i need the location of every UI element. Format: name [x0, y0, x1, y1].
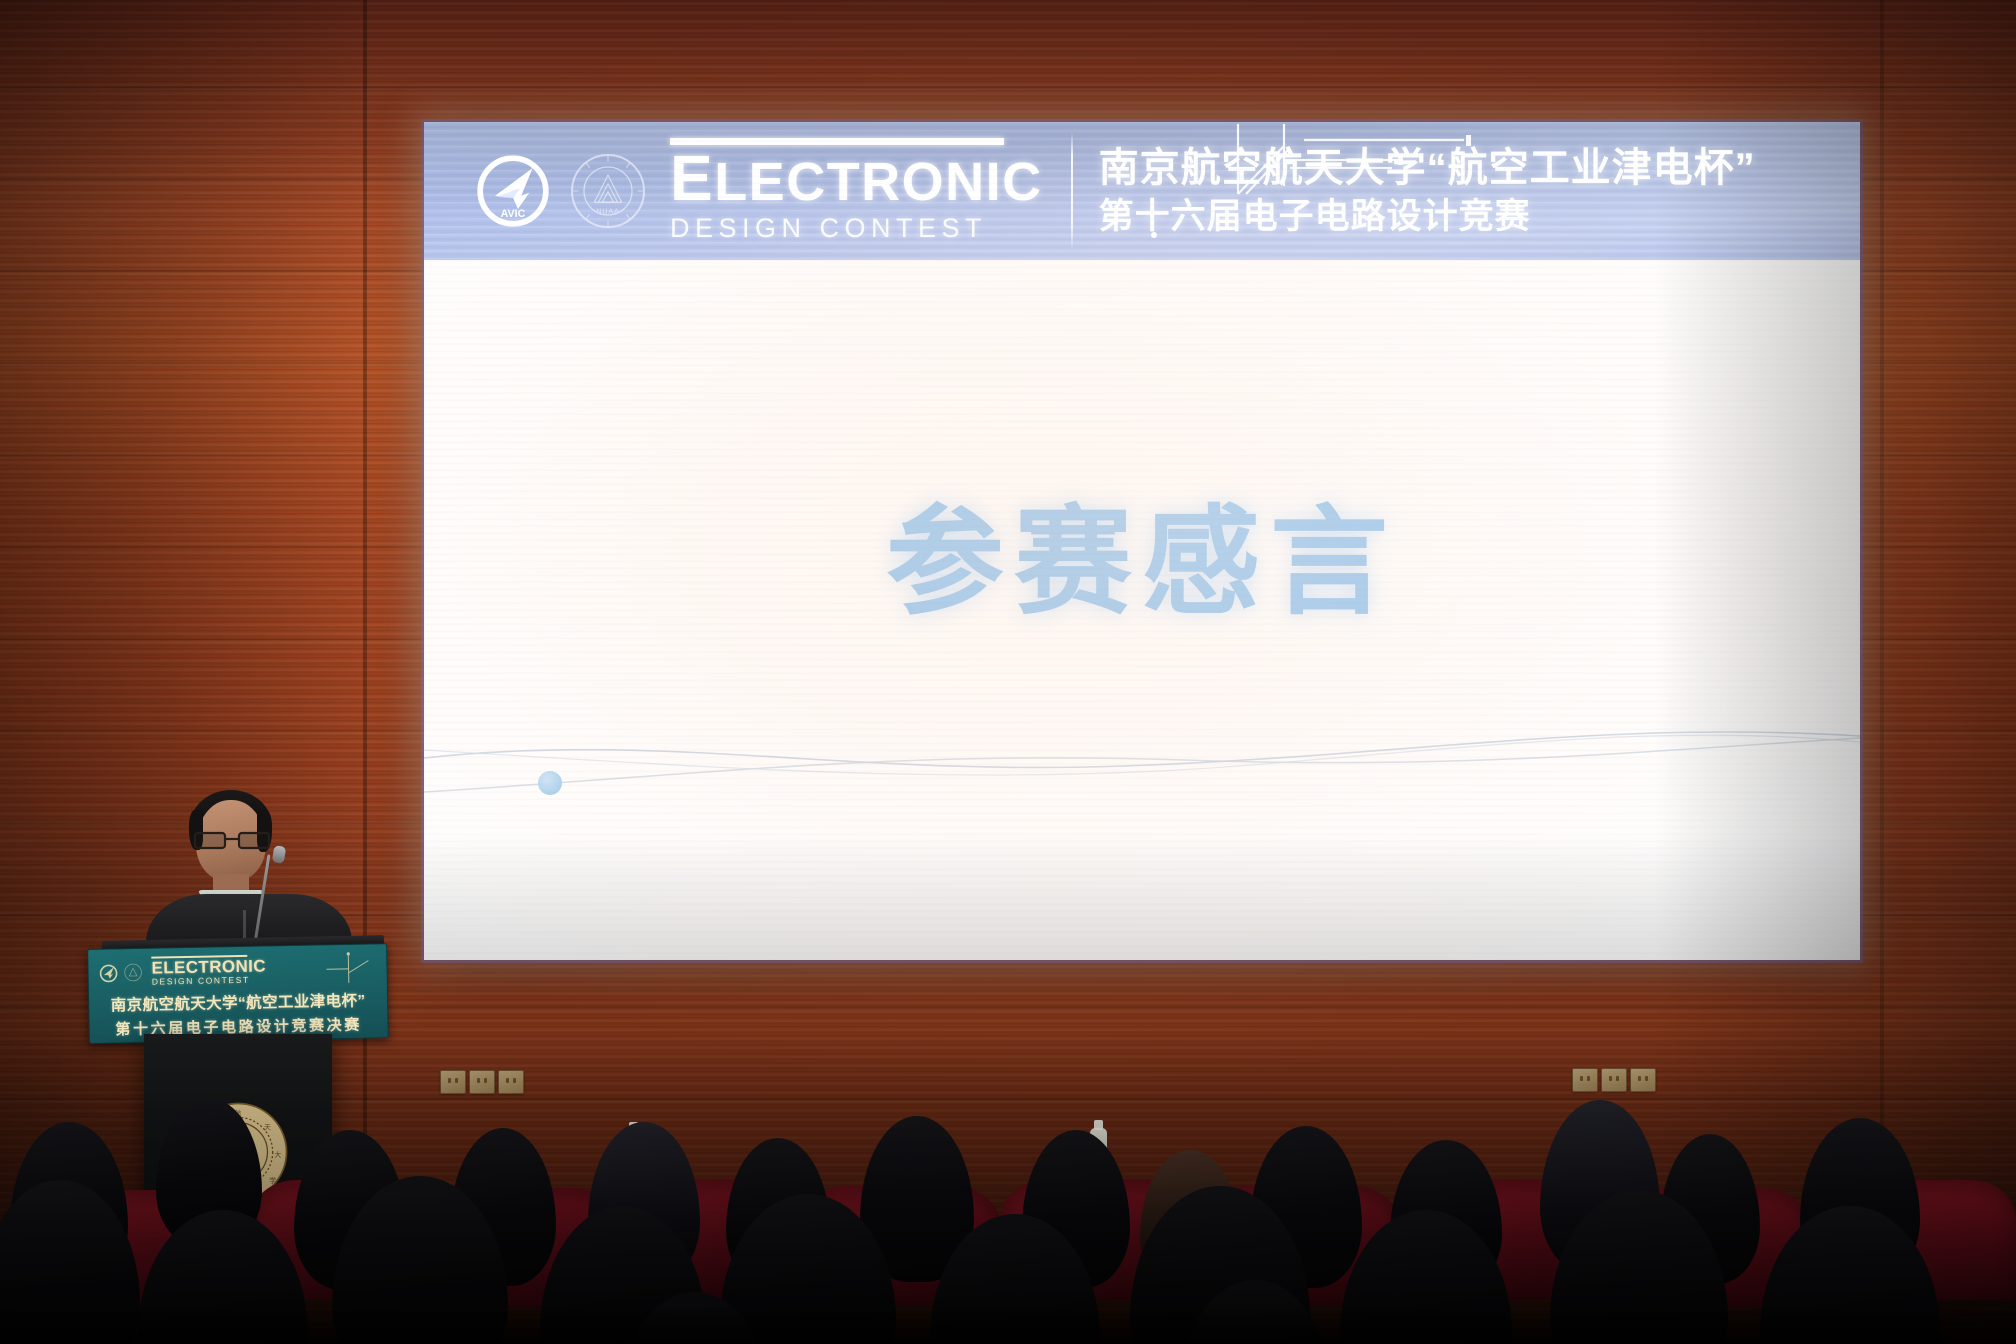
podium-circuit-decoration-icon — [322, 950, 375, 985]
avic-logo-label: AVIC — [501, 208, 526, 220]
wordmark-main-line: ELECTRONIC — [670, 148, 1043, 209]
avic-logo-icon: AVIC — [472, 150, 554, 232]
podium-avic-logo-icon — [98, 963, 118, 983]
podium-sign: ELECTRONIC DESIGN CONTEST 南京航空航天大学“航空工业津… — [87, 943, 389, 1044]
wordmark-first-letter: E — [670, 142, 714, 214]
nuaa-seal-acronym: NUAA — [596, 206, 619, 215]
wordmark-rule — [670, 138, 1004, 145]
podium-wordmark-sub: DESIGN CONTEST — [152, 974, 267, 988]
presenter — [140, 782, 360, 957]
podium-sign-wordmark: ELECTRONIC DESIGN CONTEST — [151, 954, 266, 988]
podium-sign-cn-line-1: 南京航空航天大学“航空工业津电杯” — [89, 988, 387, 1016]
edc-wordmark: ELECTRONIC DESIGN CONTEST — [670, 138, 1043, 244]
glasses-icon — [194, 830, 270, 850]
nuaa-seal-icon: NUAA — [568, 151, 648, 231]
wordmark-sub-line: DESIGN CONTEST — [670, 213, 1043, 244]
audience-area — [0, 1030, 2016, 1344]
podium-nuaa-seal-icon — [123, 963, 142, 982]
screenshot-root: AVIC NUAA — [0, 0, 2016, 1344]
wordmark-main-rest: LECTRONIC — [714, 152, 1042, 212]
banner-vertical-divider — [1071, 132, 1073, 250]
podium-wordmark-main: ELECTRONIC — [151, 957, 266, 976]
podium-sign-logo-row: ELECTRONIC DESIGN CONTEST — [98, 954, 266, 989]
banner-cn-line-1: 南京航空航天大学“航空工业津电杯” — [1099, 145, 1756, 192]
banner-cn-line-2: 第十六届电子电路设计竞赛 — [1099, 196, 1756, 237]
banner-chinese-title: 南京航空航天大学“航空工业津电杯” 第十六届电子电路设计竞赛 — [1099, 145, 1756, 237]
